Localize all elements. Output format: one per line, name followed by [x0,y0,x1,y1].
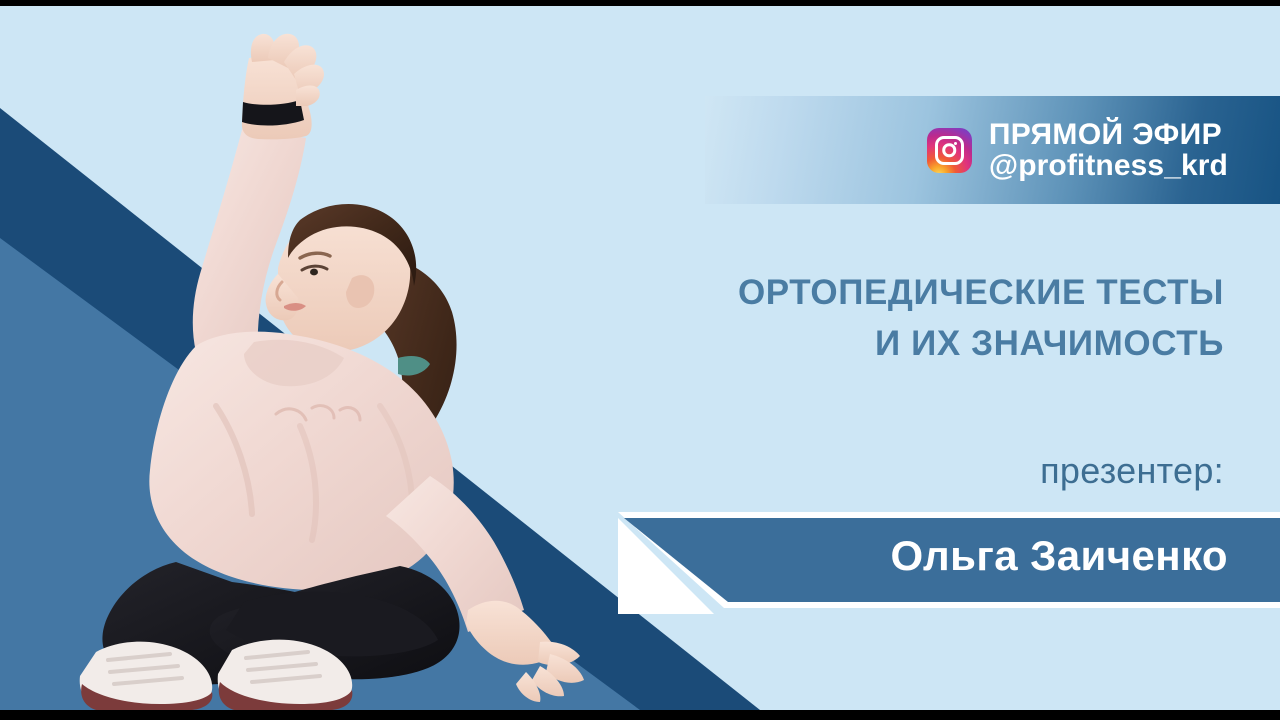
slide-canvas: ПРЯМОЙ ЭФИР @profitness_krd ОРТОПЕДИЧЕСК… [0,0,1280,720]
page-title: ОРТОПЕДИЧЕСКИЕ ТЕСТЫ И ИХ ЗНАЧИМОСТЬ [604,268,1224,370]
title-line-2: И ИХ ЗНАЧИМОСТЬ [604,319,1224,370]
letterbox-bar-top [0,0,1280,6]
letterbox-bar-bottom [0,710,1280,720]
presenter-name: Ольга Заиченко [891,508,1228,604]
presenter-name-banner: Ольга Заиченко [608,508,1280,614]
presenter-label: презентер: [1040,450,1224,492]
live-banner-text: ПРЯМОЙ ЭФИР @profitness_krd [989,119,1228,181]
instagram-icon[interactable] [927,128,972,173]
instagram-icon-dot [954,142,958,146]
live-banner: ПРЯМОЙ ЭФИР @profitness_krd [705,96,1280,204]
slide-content: ПРЯМОЙ ЭФИР @profitness_krd ОРТОПЕДИЧЕСК… [0,6,1280,710]
instagram-icon-frame [935,136,964,165]
live-banner-content: ПРЯМОЙ ЭФИР @profitness_krd [927,119,1228,181]
instagram-icon-lens [943,143,957,157]
title-line-1: ОРТОПЕДИЧЕСКИЕ ТЕСТЫ [604,268,1224,319]
live-label: ПРЯМОЙ ЭФИР [989,119,1228,150]
instagram-handle[interactable]: @profitness_krd [989,150,1228,181]
